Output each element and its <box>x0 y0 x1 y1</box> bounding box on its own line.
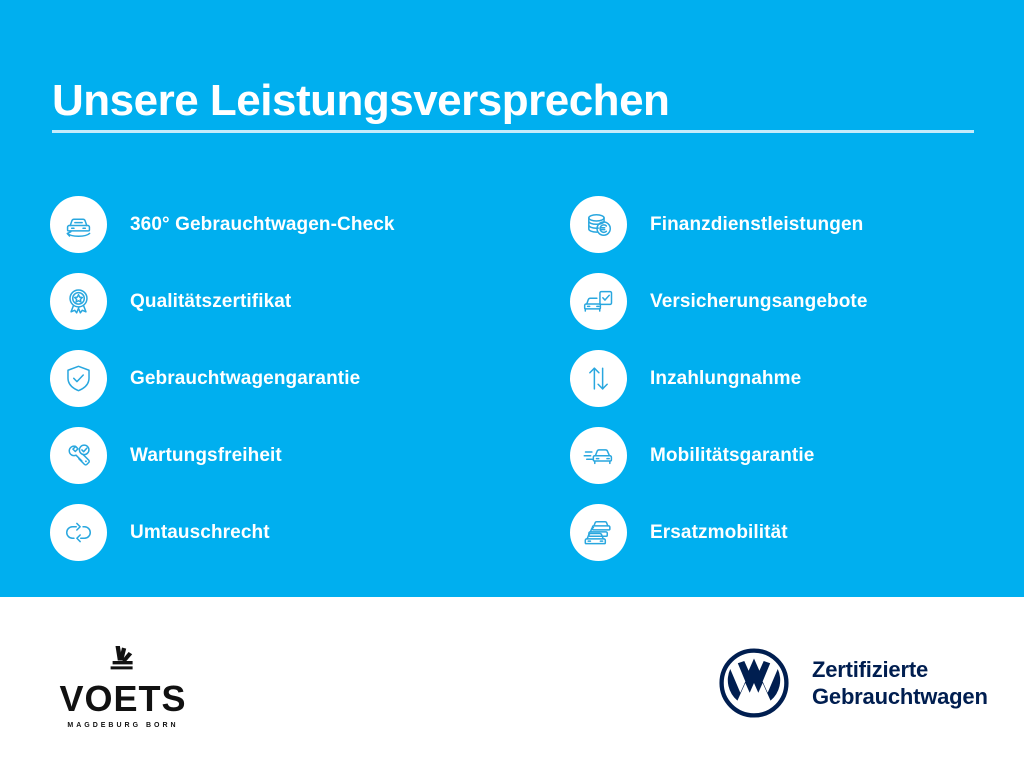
feature-item-qualitaetszertifikat: Qualitätszertifikat <box>50 273 520 330</box>
car-360-check-icon <box>50 196 107 253</box>
feature-label: Versicherungsangebote <box>650 291 868 313</box>
feature-item-360-check: 360° Gebrauchtwagen-Check <box>50 196 520 253</box>
car-document-check-icon <box>570 273 627 330</box>
dealer-logo-wordmark: VOETS <box>48 681 198 717</box>
dealer-logo-subtitle: MAGDEBURG BORN <box>48 722 198 729</box>
footer-panel: VOETS MAGDEBURG BORN Zertifizierte Gebra… <box>0 597 1024 768</box>
promise-page: Unsere Leistungsversprechen <box>0 0 1024 768</box>
two-cars-icon <box>570 504 627 561</box>
award-medal-icon <box>50 273 107 330</box>
dealer-logo: VOETS MAGDEBURG BORN <box>48 645 198 729</box>
feature-label: Gebrauchtwagengarantie <box>130 368 360 390</box>
feature-item-umtauschrecht: Umtauschrecht <box>50 504 520 561</box>
feature-label: Wartungsfreiheit <box>130 445 282 467</box>
feature-label: Qualitätszertifikat <box>130 291 291 313</box>
voets-chevron-mark <box>48 645 198 679</box>
title-divider <box>52 130 974 133</box>
brand-logo-text: Zertifizierte Gebrauchtwagen <box>812 656 988 711</box>
coins-euro-icon <box>570 196 627 253</box>
brand-logo-line2: Gebrauchtwagen <box>812 684 988 709</box>
feature-label: Umtauschrecht <box>130 522 270 544</box>
vw-roundel-icon <box>718 647 790 719</box>
feature-item-inzahlungnahme: Inzahlungnahme <box>570 350 1024 407</box>
features-left-column: 360° Gebrauchtwagen-Check Qualitätszerti… <box>50 196 520 561</box>
brand-logo: Zertifizierte Gebrauchtwagen <box>718 647 988 719</box>
page-title: Unsere Leistungsversprechen <box>52 77 669 125</box>
features-section: 360° Gebrauchtwagen-Check Qualitätszerti… <box>0 196 1024 596</box>
feature-label: Ersatzmobilität <box>650 522 788 544</box>
brand-logo-line1: Zertifizierte <box>812 657 928 682</box>
feature-item-mobilitaetsgarantie: Mobilitätsgarantie <box>570 427 1024 484</box>
feature-item-gebrauchtwagengarantie: Gebrauchtwagengarantie <box>50 350 520 407</box>
shield-check-icon <box>50 350 107 407</box>
feature-label: Mobilitätsgarantie <box>650 445 814 467</box>
feature-item-finanzdienstleistungen: Finanzdienstleistungen <box>570 196 1024 253</box>
feature-label: Finanzdienstleistungen <box>650 214 863 236</box>
exchange-arrows-icon <box>50 504 107 561</box>
feature-item-ersatzmobilitaet: Ersatzmobilität <box>570 504 1024 561</box>
hero-panel: Unsere Leistungsversprechen <box>0 0 1024 597</box>
car-speed-lines-icon <box>570 427 627 484</box>
up-down-arrows-icon <box>570 350 627 407</box>
feature-label: 360° Gebrauchtwagen-Check <box>130 214 395 236</box>
feature-label: Inzahlungnahme <box>650 368 801 390</box>
feature-item-versicherungsangebote: Versicherungsangebote <box>570 273 1024 330</box>
features-right-column: Finanzdienstleistungen Versicheru <box>570 196 1024 561</box>
feature-item-wartungsfreiheit: Wartungsfreiheit <box>50 427 520 484</box>
wrench-check-tag-icon <box>50 427 107 484</box>
